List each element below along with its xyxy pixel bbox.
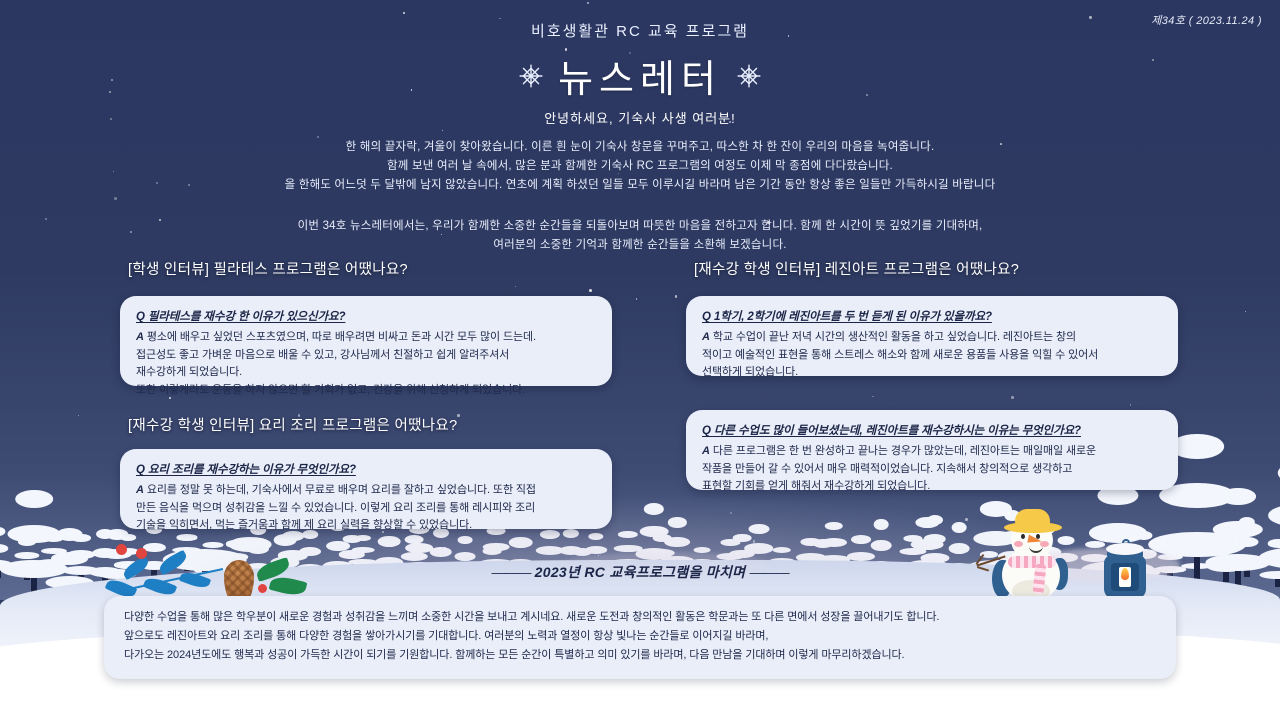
closing-title-text: 2023년 RC 교육프로그램을 마치며: [535, 564, 746, 580]
snow-dot: [1089, 16, 1091, 18]
page-title: 뉴스레터: [558, 48, 722, 103]
intro-paragraph-2: 이번 34호 뉴스레터에서는, 우리가 함께한 소중한 순간들을 되돌아보며 따…: [0, 217, 1280, 255]
closing-rule-right: ———: [750, 564, 789, 580]
snow-dot: [587, 2, 589, 4]
snowman-hat-brim: [1004, 522, 1062, 533]
interview-card-pilates: Q 필라테스를 재수강 한 이유가 있으신가요? A 평소에 배우고 싶었던 스…: [120, 296, 612, 386]
berry: [258, 584, 267, 593]
answer-line: 다른 프로그램은 한 번 완성하고 끝나는 경우가 많았는데, 레진아트는 매일…: [713, 445, 1096, 457]
interview-card-cooking: Q 요리 조리를 재수강하는 이유가 무엇인가요? A 요리를 정말 못 하는데…: [120, 449, 612, 529]
interview-answer: A 평소에 배우고 싶었던 스포츠였으며, 따로 배우려면 비싸고 돈과 시간 …: [136, 329, 596, 399]
answer-line: 표현할 기회를 얻게 해줘서 재수강하게 되었습니다.: [702, 480, 930, 492]
snow-dot: [1011, 396, 1013, 398]
interview-card-resinart-1: Q 1학기, 2학기에 레진아트를 두 번 듣게 된 이유가 있을까요? A 학…: [686, 296, 1178, 376]
snowman-eye: [1021, 534, 1025, 539]
answer-marker: A: [702, 445, 710, 457]
intro-line: 여러분의 소중한 기억과 함께한 순간들을 소환해 보겠습니다.: [0, 236, 1280, 255]
closing-banner: ——— 2023년 RC 교육프로그램을 마치며 ———: [0, 562, 1280, 582]
interview-answer: A 다른 프로그램은 한 번 완성하고 끝나는 경우가 많았는데, 레진아트는 …: [702, 443, 1162, 496]
snow-dot: [589, 289, 592, 292]
section-heading-resinart: [재수강 학생 인터뷰] 레진아트 프로그램은 어땠나요?: [694, 258, 1019, 279]
intro-greeting: 안녕하세요, 기숙사 사생 여러분!: [0, 108, 1280, 127]
closing-message-card: 다양한 수업을 통해 많은 학우분이 새로운 경험과 성취감을 느끼며 소중한 …: [104, 596, 1176, 679]
answer-line: 접근성도 좋고 가벼운 마음으로 배울 수 있고, 강사님께서 친절하고 쉽게 …: [136, 349, 509, 361]
closing-line: 앞으로도 레진아트와 요리 조리를 통해 다양한 경험을 쌓아가시기를 기대합니…: [124, 627, 1156, 646]
answer-marker: A: [702, 331, 710, 343]
answer-line: 선택하게 되었습니다.: [702, 366, 798, 378]
answer-line: 또한 이렇게라도 운동을 하지 않으면 할 기회가 없고, 건강을 위해 신청하…: [136, 384, 525, 396]
page-header: 비호생활관 RC 교육 프로그램 뉴스레터: [0, 20, 1280, 103]
section-heading-cooking: [재수강 학생 인터뷰] 요리 조리 프로그램은 어땠나요?: [128, 414, 457, 435]
intro-line: 함께 보낸 여러 날 속에서, 많은 분과 함께한 기숙사 RC 프로그램의 여…: [0, 157, 1280, 176]
interview-question: Q 다른 수업도 많이 들어보셨는데, 레진아트를 재수강하시는 이유는 무엇인…: [702, 422, 1162, 438]
answer-marker: A: [136, 331, 144, 343]
snowflake-icon: [736, 63, 762, 89]
section-heading-pilates: [학생 인터뷰] 필라테스 프로그램은 어땠나요?: [128, 258, 408, 279]
answer-line: 요리를 정말 못 하는데, 기숙사에서 무료로 배우며 요리를 잘하고 싶었습니…: [147, 484, 536, 496]
snow-dot: [444, 547, 446, 549]
answer-line: 적이고 예술적인 표현을 통해 스트레스 해소와 함께 새로운 용품들 사용을 …: [702, 349, 1098, 361]
interview-question: Q 요리 조리를 재수강하는 이유가 무엇인가요?: [136, 461, 596, 477]
intro-line: 한 해의 끝자락, 겨울이 찾아왔습니다. 이른 흰 눈이 기숙사 창문을 꾸며…: [0, 138, 1280, 157]
answer-line: 재수강하게 되었습니다.: [136, 366, 242, 378]
interview-question: Q 1학기, 2학기에 레진아트를 두 번 듣게 된 이유가 있을까요?: [702, 308, 1162, 324]
newsletter-page: 제34호 ( 2023.11.24 ) 비호생활관 RC 교육 프로그램 뉴스레…: [0, 0, 1280, 720]
header-kicker: 비호생활관 RC 교육 프로그램: [0, 20, 1280, 41]
snow-dot: [457, 414, 459, 416]
closing-line: 다양한 수업을 통해 많은 학우분이 새로운 경험과 성취감을 느끼며 소중한 …: [124, 608, 1156, 627]
interview-card-resinart-2: Q 다른 수업도 많이 들어보셨는데, 레진아트를 재수강하시는 이유는 무엇인…: [686, 410, 1178, 490]
interview-question: Q 필라테스를 재수강 한 이유가 있으신가요?: [136, 308, 596, 324]
berry: [136, 548, 147, 559]
snowman-cheek: [1014, 541, 1023, 547]
snow-dot: [965, 518, 968, 521]
answer-line: 작품을 만들어 갈 수 있어서 매우 매력적이었습니다. 지속해서 창의적으로 …: [702, 463, 1072, 475]
lantern-snow-cap: [1106, 543, 1144, 555]
interview-answer: A 학교 수업이 끝난 저녁 시간의 생산적인 활동을 하고 싶었습니다. 레진…: [702, 329, 1162, 382]
answer-line: 학교 수업이 끝난 저녁 시간의 생산적인 활동을 하고 싶었습니다. 레진아트…: [713, 331, 1076, 343]
intro-line: 이번 34호 뉴스레터에서는, 우리가 함께한 소중한 순간들을 되돌아보며 따…: [0, 217, 1280, 236]
intro-block: 안녕하세요, 기숙사 사생 여러분! 한 해의 끝자락, 겨울이 찾아왔습니다.…: [0, 108, 1280, 255]
interview-answer: A 요리를 정말 못 하는데, 기숙사에서 무료로 배우며 요리를 잘하고 싶었…: [136, 482, 596, 535]
snowflake-icon: [518, 63, 544, 89]
snow-dot: [515, 286, 517, 288]
intro-paragraph-1: 한 해의 끝자락, 겨울이 찾아왔습니다. 이른 흰 눈이 기숙사 창문을 꾸며…: [0, 138, 1280, 195]
answer-line: 평소에 배우고 싶었던 스포츠였으며, 따로 배우려면 비싸고 돈과 시간 모두…: [147, 331, 536, 343]
answer-marker: A: [136, 484, 144, 496]
snowman-illustration: [978, 508, 1086, 604]
answer-line: 만든 음식을 먹으며 성취감을 느낄 수 있었습니다. 이렇게 요리 조리를 통…: [136, 502, 535, 514]
snow-dot: [636, 298, 638, 300]
closing-rule-left: ———: [491, 564, 530, 580]
closing-line: 다가오는 2024년도에도 행복과 성공이 가득한 시간이 되기를 기원합니다.…: [124, 646, 1156, 665]
intro-line: 올 한해도 어느덧 두 달밖에 남지 않았습니다. 연초에 계획 하셨던 일들 …: [0, 176, 1280, 195]
berry: [116, 544, 127, 555]
answer-line: 기술을 익히면서, 먹는 즐거움과 함께 제 요리 실력을 향상할 수 있었습니…: [136, 519, 472, 531]
